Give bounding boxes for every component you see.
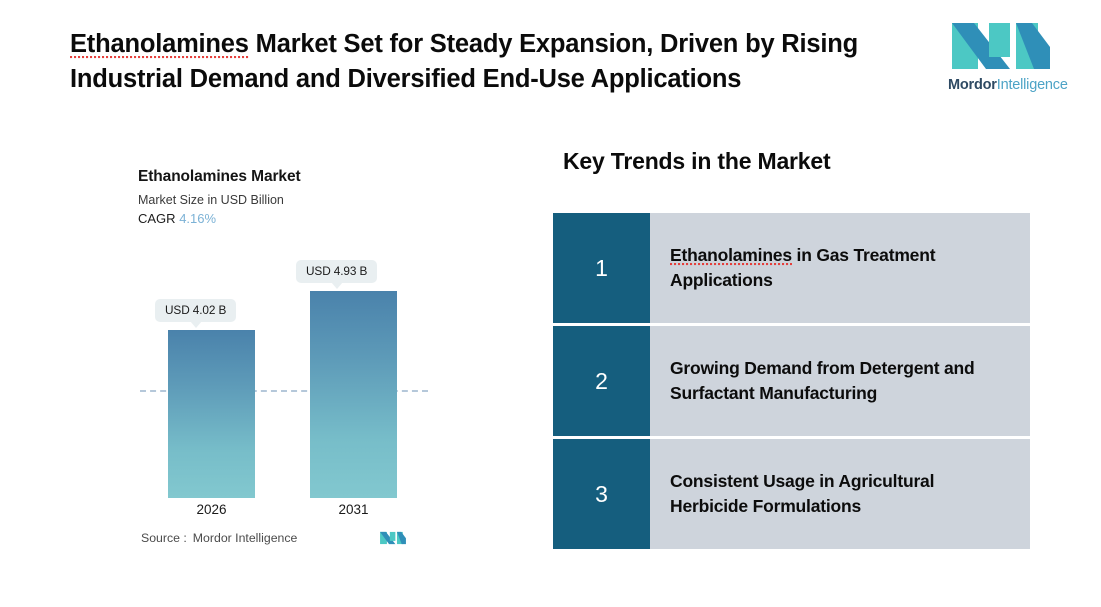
brand-logo: MordorIntelligence (948, 17, 1054, 95)
bar-2026 (168, 330, 255, 498)
key-trends-table: 1 Ethanolamines in Gas Treatment Applica… (553, 213, 1030, 549)
source-label: Source : (141, 531, 187, 545)
chart-source: Source : Mordor Intelligence (141, 530, 407, 546)
page-title: Ethanolamines Market Set for Steady Expa… (70, 27, 900, 97)
trend-number-2: 2 (553, 326, 650, 436)
cagr-label: CAGR (138, 211, 176, 226)
key-trends-heading: Key Trends in the Market (563, 148, 830, 175)
brand-wordmark: MordorIntelligence (948, 77, 1054, 93)
trend-text-1: Ethanolamines in Gas Treatment Applicati… (650, 213, 1030, 323)
table-row: 2 Growing Demand from Detergent and Surf… (553, 326, 1030, 436)
brand-name-mordor: Mordor (948, 77, 997, 93)
chart-plot-area: USD 4.02 B USD 4.93 B 2026 2031 (138, 238, 438, 498)
page-title-misspelled-word: Ethanolamines (70, 30, 249, 60)
bar-value-label-2031: USD 4.93 B (296, 260, 377, 283)
brand-name-intelligence: Intelligence (997, 77, 1068, 93)
mordor-m-logo-small-icon (379, 530, 407, 546)
source-value: Mordor Intelligence (193, 531, 298, 545)
x-axis-tick-2026: 2026 (168, 502, 255, 517)
x-axis-tick-2031: 2031 (310, 502, 397, 517)
table-row: 3 Consistent Usage in Agricultural Herbi… (553, 439, 1030, 549)
table-row: 1 Ethanolamines in Gas Treatment Applica… (553, 213, 1030, 323)
trend-text-2: Growing Demand from Detergent and Surfac… (650, 326, 1030, 436)
trend-number-1: 1 (553, 213, 650, 323)
chart-title: Ethanolamines Market (138, 168, 438, 186)
chart-subtitle: Market Size in USD Billion (138, 193, 438, 207)
bar-2031 (310, 291, 397, 498)
cagr-value: 4.16% (179, 211, 216, 226)
trend-number-3: 3 (553, 439, 650, 549)
chart-cagr: CAGR 4.16% (138, 211, 438, 226)
trend-text-3: Consistent Usage in Agricultural Herbici… (650, 439, 1030, 549)
bar-value-label-2026: USD 4.02 B (155, 299, 236, 322)
market-size-chart: Ethanolamines Market Market Size in USD … (138, 168, 438, 558)
mordor-m-logo-icon (948, 17, 1054, 75)
trend-text-1-misspelled-word: Ethanolamines (670, 245, 792, 267)
